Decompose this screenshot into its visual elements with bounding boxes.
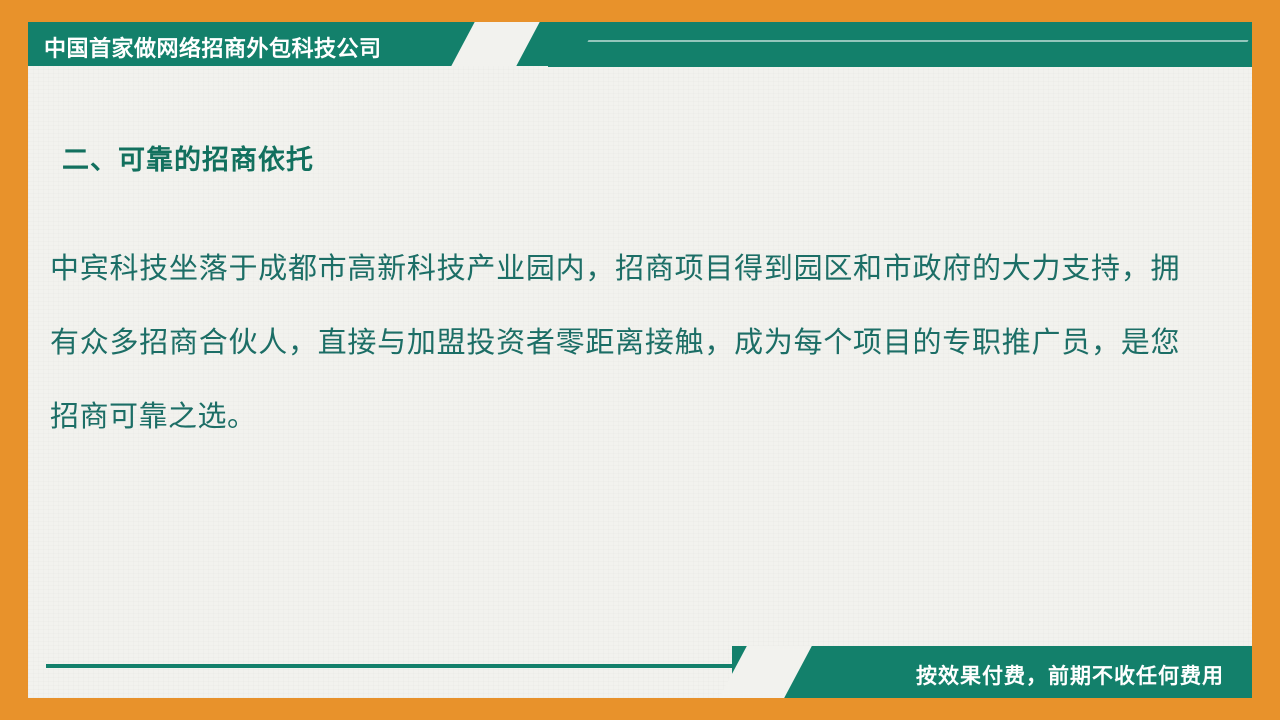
body-paragraph: 中宾科技坐落于成都市高新科技产业园内，招商项目得到园区和市政府的大力支持，拥有众…	[50, 232, 1180, 454]
header-underline	[548, 63, 1252, 67]
footer-bar: 按效果付费，前期不收任何费用	[28, 640, 1252, 698]
header-title: 中国首家做网络招商外包科技公司	[44, 31, 382, 63]
slide: 中国首家做网络招商外包科技公司 二、可靠的招商依托 中宾科技坐落于成都市高新科技…	[0, 0, 1280, 720]
footer-underline	[46, 664, 746, 668]
header-notch-dark	[516, 22, 1252, 66]
header-bar: 中国首家做网络招商外包科技公司	[28, 22, 1252, 74]
header-accent-line	[587, 40, 1248, 42]
footer-text: 按效果付费，前期不收任何费用	[916, 660, 1224, 690]
section-heading: 二、可靠的招商依托	[62, 138, 314, 177]
